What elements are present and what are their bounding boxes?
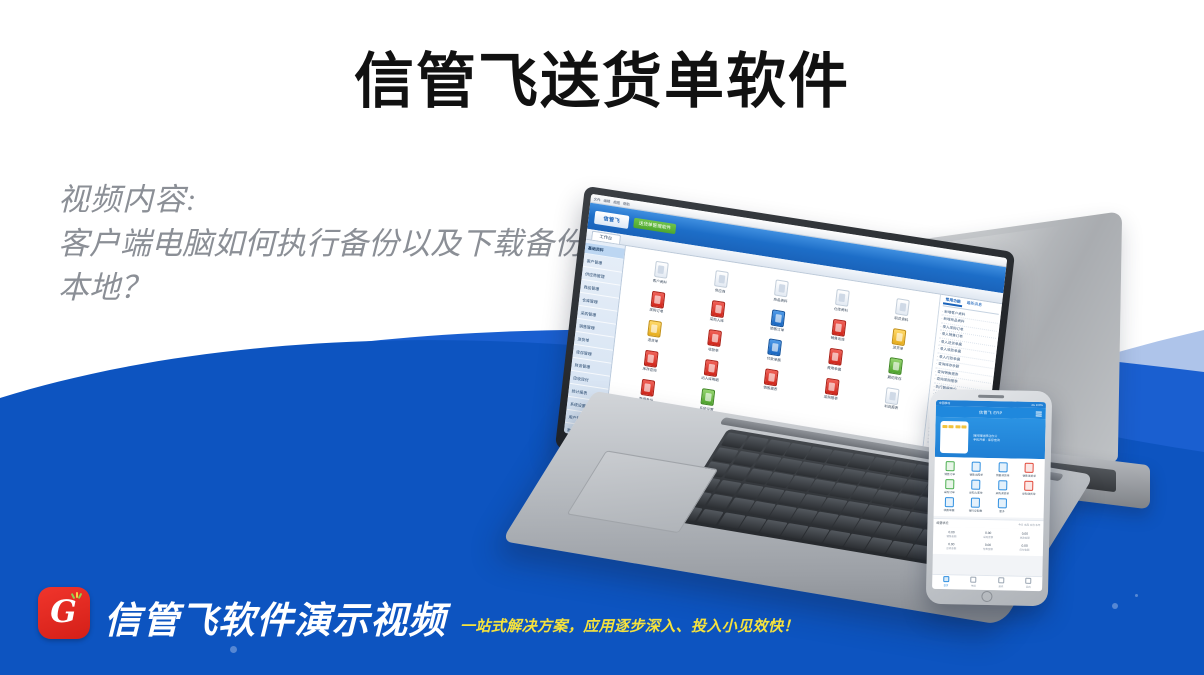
function-icon-16[interactable]: 出入库明细 [681,355,740,386]
xinguanfei-logo-icon: G [38,587,90,639]
hamburger-menu-icon[interactable] [1036,410,1042,417]
phone-module-icon [998,480,1007,490]
phone-function-grid: 销售订单销售出库单销售退货单销售送货单采购订单采购入库单采购退货单采购送货单收款… [934,457,1045,518]
function-icon-12[interactable]: 付款单据 [745,335,804,366]
module-icon [711,300,726,318]
phone-function-0[interactable]: 销售订单 [936,461,963,477]
footer-tagline: 一站式解决方案，应用逐步深入、投入小见效快！ [460,615,799,639]
function-icon-3[interactable]: 仓库资料 [812,285,871,316]
function-icon-6[interactable]: 采购入库 [688,296,747,327]
phone-function-3[interactable]: 销售送货单 [1016,463,1043,479]
phone-app-title: 信管飞 ERP [936,406,1046,419]
decor-dot-2 [1112,603,1118,609]
phone-stat-0: 0.00销售金额 [933,530,970,539]
device-mockup-group: 文件 编辑 视图 帮助 信管飞 送货单管理软件 新增单据 [520,215,1204,635]
function-icon-11[interactable]: 收款单 [685,326,744,357]
function-icon-14[interactable]: 期初库存 [866,354,925,385]
phone-section-title: 经营状况 [936,521,948,525]
decor-dot-1 [230,646,237,653]
function-icon-10[interactable]: 退货单 [624,316,683,347]
function-icon-13[interactable]: 费用单据 [806,344,865,375]
module-icon [768,338,783,356]
phone-function-label: 采购入库单 [969,492,982,495]
function-icon-5[interactable]: 采购订单 [628,287,687,318]
phone-screen: 中国移动 4G 100% 信管飞 ERP 随时随地移动办公 手机开单 · 库存查… [932,400,1046,591]
footer-banner: G 信管飞软件演示视频 一站式解决方案，应用逐步深入、投入小见效快！ [0,579,1204,675]
function-icon-4[interactable]: 职员资料 [873,295,932,326]
phone-battery: 4G 100% [1031,403,1043,407]
phone-function-7[interactable]: 采购送货单 [1016,481,1043,497]
phone-illustration-icon [940,421,969,454]
right-tab-1[interactable]: 最新消息 [964,301,984,311]
page-title: 信管飞送货单软件 [0,48,1204,117]
module-icon [647,320,662,338]
phone-stat-value: 0.00 [1006,543,1043,548]
function-icon-7[interactable]: 销售订单 [749,306,808,337]
promo-slide: 信管飞送货单软件 视频内容: 客户端电脑如何执行备份以及下载备份到 本地？ 文件… [0,0,1204,675]
phone-stat-label: 付款金额 [983,548,993,551]
brand-lockup: G 信管飞软件演示视频 一站式解决方案，应用逐步深入、投入小见效快！ [38,587,799,639]
phone-module-icon [998,498,1007,508]
phone-function-label: 采购退货单 [996,492,1009,495]
module-icon [892,328,907,346]
function-icon-0[interactable]: 客户资料 [631,257,690,288]
function-icon-8[interactable]: 销售出库 [809,315,868,346]
phone-banner-line-2: 手机开单 · 库存查询 [973,438,1000,443]
function-icon-9[interactable]: 送货单 [869,324,928,355]
phone-module-icon [945,497,954,507]
phone-module-icon [945,461,954,471]
phone-stat-4: 0.00付款金额 [970,543,1007,552]
phone-stat-3: 0.00应收金额 [933,542,970,551]
phone-module-icon [998,462,1007,472]
logo-sparkle-icon [72,592,82,602]
phone-function-label: 销售订单 [944,473,955,476]
phone-function-label: 销售退货单 [996,474,1009,477]
phone-function-label: 更多 [999,510,1004,513]
phone-module-icon [971,480,980,490]
phone-function-1[interactable]: 销售出库单 [963,461,990,477]
phone-stat-label: 应收金额 [946,547,956,550]
phone-banner-card: 随时随地移动办公 手机开单 · 库存查询 [935,417,1046,459]
app-menu-item-1[interactable]: 编辑 [603,197,610,203]
phone-stat-value: 0.00 [970,531,1007,536]
phone-module-icon [971,498,980,508]
phone-function-4[interactable]: 采购订单 [936,479,963,495]
function-icon-1[interactable]: 供应商 [692,267,751,298]
phone-stat-value: 0.00 [933,530,970,535]
module-icon [704,359,719,377]
phone-module-icon [1025,463,1034,473]
phone-function-6[interactable]: 采购退货单 [989,480,1016,496]
phone-carrier: 中国移动 [939,401,950,405]
brand-name: 信管飞软件演示视频 [104,602,446,639]
phone-stat-label: 销售金额 [946,535,956,538]
module-icon [707,329,722,347]
app-menu-item-3[interactable]: 帮助 [623,200,630,206]
decor-dot-3 [1135,594,1138,597]
phone-banner-text: 随时随地移动办公 手机开单 · 库存查询 [973,433,1000,443]
phone-stat-value: 0.00 [933,542,970,547]
module-icon [895,298,910,316]
phone-function-label: 销售出库单 [969,474,982,477]
function-icon-15[interactable]: 库存查询 [621,346,680,377]
module-icon [654,261,669,279]
phone-module-icon [972,462,981,472]
smartphone-mockup: 中国移动 4G 100% 信管飞 ERP 随时随地移动办公 手机开单 · 库存查… [926,389,1052,607]
phone-stat-label: 应付金额 [1020,549,1030,552]
function-icon-18[interactable]: 采购报表 [802,374,861,405]
app-logo: 信管飞 [594,210,629,228]
module-icon [825,377,840,395]
module-icon [835,289,850,307]
phone-function-8[interactable]: 收款单据 [936,497,963,513]
app-menu-item-2[interactable]: 视图 [613,199,620,205]
phone-module-icon [1024,481,1033,491]
phone-stats-grid: 0.00销售金额0.00采购金额0.00收款金额0.00应收金额0.00付款金额… [933,527,1044,556]
phone-function-2[interactable]: 销售退货单 [989,462,1016,478]
phone-section-filters[interactable]: 今日 本周 本月 本年 [1018,523,1040,527]
module-icon [828,348,843,366]
phone-stat-value: 0.00 [970,543,1007,548]
app-product-badge: 送货单管理软件 [633,218,676,235]
function-icon-2[interactable]: 商品资料 [752,276,811,307]
phone-function-label: 采购订单 [944,491,955,494]
module-icon [643,349,658,367]
function-icon-17[interactable]: 销售报表 [742,365,801,396]
phone-stat-label: 收款金额 [1020,537,1030,540]
module-icon [888,357,903,375]
phone-earpiece [978,395,1004,398]
phone-module-icon [945,479,954,489]
phone-function-label: 销售送货单 [1022,475,1035,478]
phone-function-9[interactable]: 银行存取款 [962,497,989,513]
module-icon [831,318,846,336]
phone-function-label: 银行存取款 [969,510,982,513]
thumbnail-dots [942,425,966,429]
phone-function-label: 收款单据 [944,509,955,512]
module-icon [640,379,655,397]
phone-stat-label: 采购金额 [983,536,993,539]
module-icon [714,270,729,288]
phone-stat-5: 0.00应付金额 [1006,543,1043,552]
app-menu-item-0[interactable]: 文件 [594,196,601,202]
module-icon [771,309,786,327]
phone-app-title-text: 信管飞 ERP [979,409,1003,415]
phone-stat-2: 0.00收款金额 [1006,531,1043,540]
module-icon [885,387,900,405]
phone-function-5[interactable]: 采购入库单 [963,479,990,495]
phone-stat-value: 0.00 [1007,531,1044,536]
module-icon [701,388,716,406]
right-tab-0[interactable]: 常用功能 [943,297,963,307]
module-icon [764,368,779,386]
function-icon-19[interactable]: 利润报表 [863,383,922,414]
module-icon [774,279,789,297]
phone-stat-1: 0.00采购金额 [970,531,1007,540]
phone-function-10[interactable]: 更多 [989,498,1016,514]
phone-function-label: 采购送货单 [1022,493,1035,496]
module-icon [650,290,665,308]
